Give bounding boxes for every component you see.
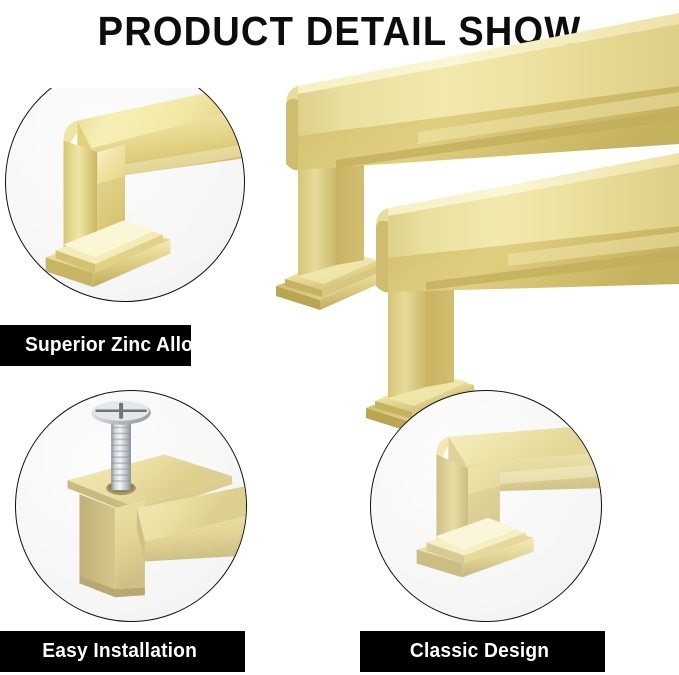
inset-classic-design	[370, 390, 602, 622]
caption-label-superior-zinc-alloy: Superior Zinc Alloy	[0, 334, 191, 357]
caption-label-easy-installation: Easy Installation	[0, 640, 197, 663]
install-leg	[79, 494, 144, 589]
product-detail-show-image: PRODUCT DETAIL SHOW	[0, 0, 679, 675]
classic-base	[417, 518, 534, 577]
caption-bar-easy-installation: Easy Installation	[0, 631, 245, 672]
caption-label-classic-design: Classic Design	[360, 640, 549, 663]
caption-bar-classic-design: Classic Design	[360, 631, 605, 672]
inset-easy-installation	[15, 390, 247, 622]
handle-lower	[366, 153, 679, 432]
hero-product-photo	[268, 60, 679, 390]
caption-bar-superior-zinc-alloy: Superior Zinc Alloy	[0, 325, 191, 366]
inset-superior-zinc-alloy	[5, 62, 245, 302]
